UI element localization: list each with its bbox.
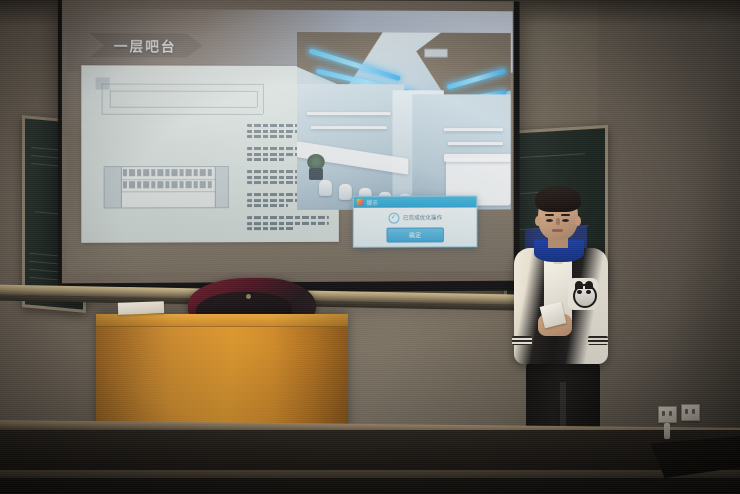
hair (535, 186, 581, 212)
cat-face-graphic-icon (568, 278, 598, 310)
slide-title-text: 一层吧台 (114, 35, 177, 55)
dialog-ok-button[interactable]: 确定 (387, 227, 444, 242)
floor-seam (0, 470, 740, 478)
projection-screen: 一层吧台 (58, 0, 520, 293)
potted-plant (305, 154, 327, 180)
screenshot-root: 一层吧台 (0, 0, 740, 494)
dialog-message: 已完成优化操作 (403, 214, 442, 222)
ceiling-vent (424, 49, 448, 58)
slide-canvas: 一层吧台 (67, 9, 513, 274)
app-icon (357, 199, 364, 206)
dialog-title-text: 提示 (367, 198, 379, 206)
annotation-paragraph (247, 216, 329, 230)
spec-table (104, 166, 229, 208)
system-dialog[interactable]: 提示 ✓ 已完成优化操作 确定 (353, 196, 478, 248)
floor (0, 430, 740, 494)
projected-slide: 一层吧台 (67, 9, 513, 274)
dialog-body: ✓ 已完成优化操作 确定 (354, 208, 477, 247)
screen-surface: 一层吧台 (62, 0, 514, 283)
dialog-title-bar: 提示 (354, 197, 478, 208)
wall-outlet-left[interactable] (658, 406, 677, 423)
paper-on-podium (118, 301, 164, 315)
floor-plan-drawing (96, 77, 273, 124)
interior-render-image (297, 32, 511, 210)
wall-outlet-right[interactable] (681, 404, 700, 421)
power-plug (664, 423, 670, 439)
jacket-button (246, 294, 251, 299)
info-check-icon: ✓ (388, 212, 399, 223)
slide-title-banner: 一层吧台 (89, 33, 202, 58)
